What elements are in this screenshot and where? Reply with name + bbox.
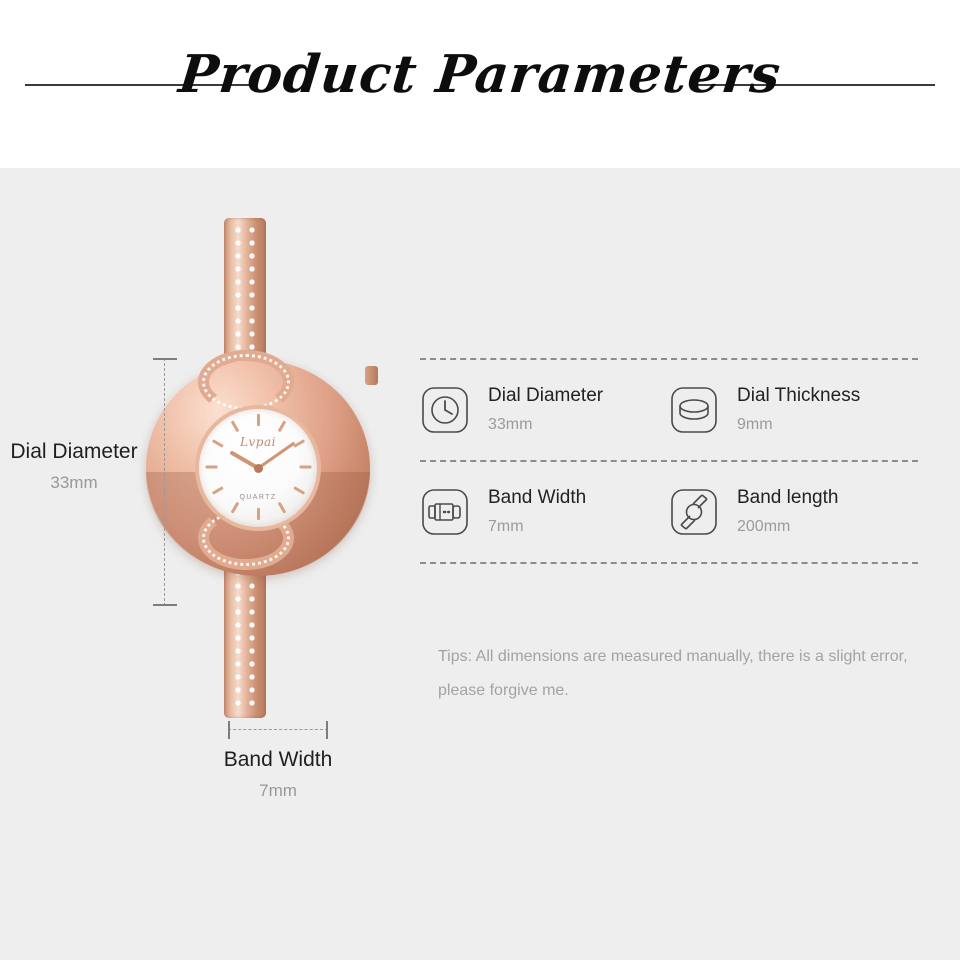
spec-value: 200mm <box>737 518 838 536</box>
product-photo-watch: Lvpai QUARTZ <box>168 218 348 718</box>
watch-dial-icon <box>420 385 470 435</box>
band-width-icon <box>420 487 470 537</box>
hour-marker <box>257 414 260 426</box>
hour-marker <box>205 466 217 469</box>
spec-item-band-length: Band length 200mm <box>669 462 918 562</box>
spec-text-dial-thickness: Dial Thickness 9mm <box>737 386 860 433</box>
page-title: Product Parameters <box>0 44 960 105</box>
spec-label: Band Width <box>488 488 586 509</box>
band-length-icon <box>669 487 719 537</box>
dial-movement-text: QUARTZ <box>199 494 317 501</box>
hour-marker <box>277 420 286 432</box>
hour-marker <box>277 502 286 514</box>
caliper-cap-right <box>326 721 328 739</box>
spec-item-dial-diameter: Dial Diameter 33mm <box>420 360 669 460</box>
caliper-cap-top <box>153 358 177 360</box>
spec-value: 9mm <box>737 416 860 434</box>
caliper-cap-left <box>228 721 230 739</box>
spec-text-dial-diameter: Dial Diameter 33mm <box>488 386 603 433</box>
dial-diameter-annotation-label: Dial Diameter <box>0 440 148 464</box>
spec-separator-bottom <box>420 562 918 564</box>
dial-diameter-annotation-value: 33mm <box>0 473 148 493</box>
spec-item-band-width: Band Width 7mm <box>420 462 669 562</box>
rhinestone-pave-bottom <box>231 554 259 712</box>
tips-line-1: Tips: All dimensions are measured manual… <box>438 640 928 674</box>
dial-thickness-icon <box>669 385 719 435</box>
band-width-annotation: Band Width 7mm <box>178 748 378 801</box>
band-width-caliper <box>228 729 328 730</box>
dial-diameter-caliper <box>164 358 165 606</box>
spec-panel: Dial Diameter 33mm Dial Thickness 9mm <box>420 358 918 564</box>
spec-label: Band length <box>737 488 838 509</box>
spec-text-band-width: Band Width 7mm <box>488 488 586 535</box>
spec-label: Dial Diameter <box>488 386 603 407</box>
hour-marker <box>299 466 311 469</box>
spec-value: 7mm <box>488 518 586 536</box>
tips-note: Tips: All dimensions are measured manual… <box>438 640 928 707</box>
hour-marker <box>230 502 239 514</box>
dial-brand-logo: Lvpai <box>199 435 317 449</box>
dial-diameter-annotation: Dial Diameter 33mm <box>0 440 148 493</box>
caliper-cap-bottom <box>153 604 177 606</box>
watch-dial: Lvpai QUARTZ <box>195 405 321 531</box>
band-width-annotation-value: 7mm <box>178 781 378 801</box>
spec-item-dial-thickness: Dial Thickness 9mm <box>669 360 918 460</box>
hour-marker <box>257 508 260 520</box>
spec-text-band-length: Band length 200mm <box>737 488 838 535</box>
watch-lug-top <box>198 350 294 414</box>
product-parameters-page: Product Parameters <box>0 0 960 960</box>
page-header: Product Parameters <box>0 0 960 168</box>
spec-row-1: Dial Diameter 33mm Dial Thickness 9mm <box>420 360 918 460</box>
spec-row-2: Band Width 7mm <box>420 462 918 562</box>
product-photo-area: Lvpai QUARTZ Dial Diameter 33mm Band Wid… <box>0 168 410 960</box>
tips-line-2: please forgive me. <box>438 674 928 708</box>
spec-value: 33mm <box>488 416 603 434</box>
watch-crown <box>365 366 378 385</box>
band-width-annotation-label: Band Width <box>178 748 378 772</box>
dial-center-pin <box>254 464 263 473</box>
spec-label: Dial Thickness <box>737 386 860 407</box>
hour-marker <box>230 420 239 432</box>
